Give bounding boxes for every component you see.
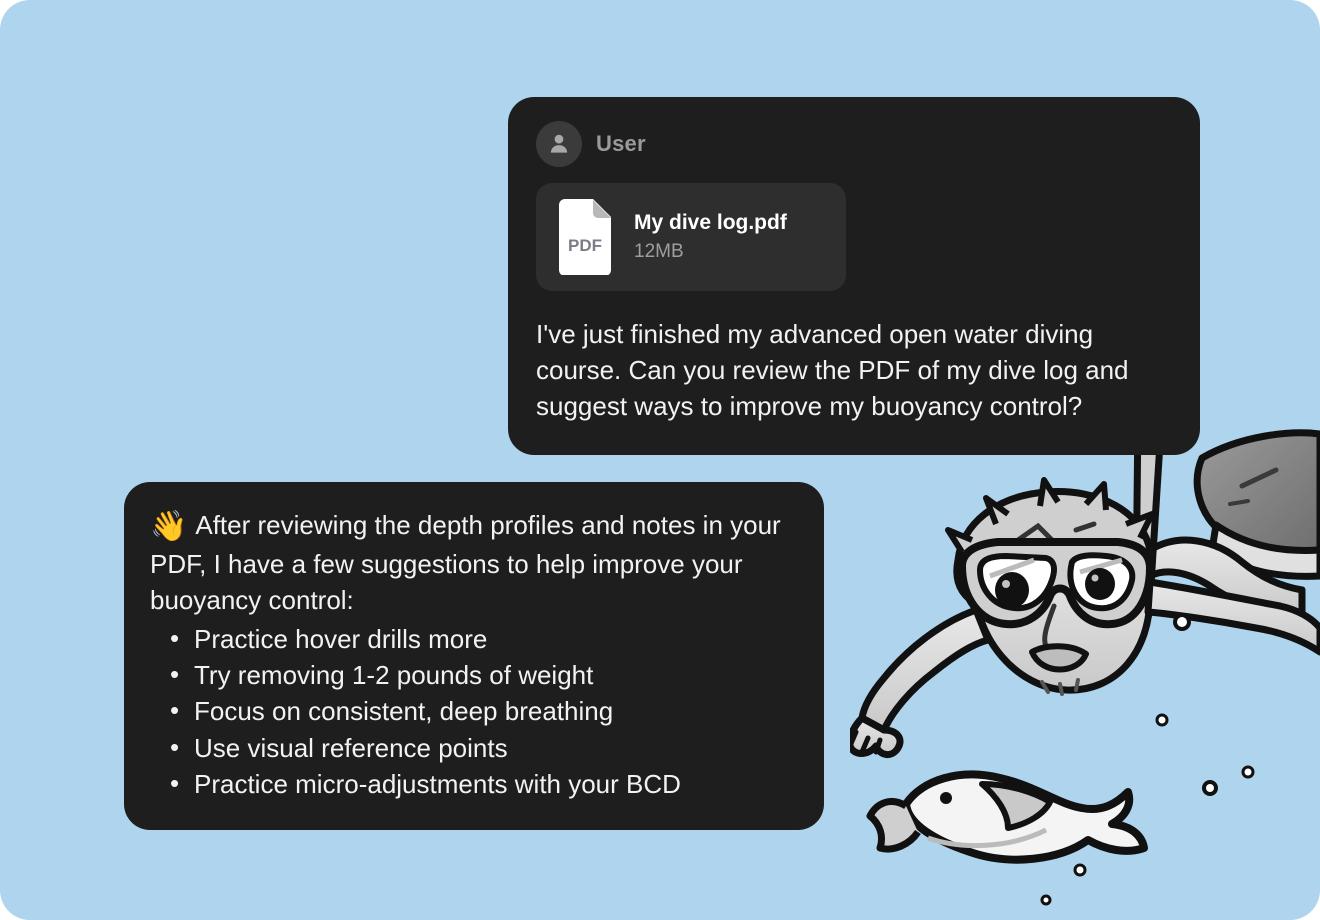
suggestion-list: Practice hover drills more Try removing … <box>150 621 794 802</box>
snorkeler-arm-left <box>850 610 988 755</box>
dive-mask-icon <box>962 542 1150 624</box>
hair <box>948 480 1152 608</box>
pdf-file-icon: PDF <box>554 199 616 275</box>
assistant-intro-body: After reviewing the depth profiles and n… <box>150 510 781 615</box>
snorkeler-arm-right <box>1148 582 1320 652</box>
screen-canvas: User PDF My dive log.pdf 12MB I've just … <box>0 0 1320 920</box>
list-item: Use visual reference points <box>168 730 794 766</box>
assistant-intro-text: 👋After reviewing the depth profiles and … <box>150 506 794 619</box>
snorkeler-body <box>1150 540 1302 614</box>
air-bubbles <box>1042 400 1253 904</box>
list-item: Try removing 1-2 pounds of weight <box>168 657 794 693</box>
list-item: Practice micro-adjustments with your BCD <box>168 766 794 802</box>
wetsuit-arm <box>1197 433 1320 577</box>
attachment-card[interactable]: PDF My dive log.pdf 12MB <box>536 183 846 291</box>
user-message-bubble: User PDF My dive log.pdf 12MB I've just … <box>508 97 1200 455</box>
fish <box>870 774 1144 859</box>
assistant-message-bubble: 👋After reviewing the depth profiles and … <box>124 482 824 830</box>
attachment-file-size: 12MB <box>634 241 787 263</box>
message-header: User <box>536 121 1172 167</box>
avatar <box>536 121 582 167</box>
list-item: Practice hover drills more <box>168 621 794 657</box>
svg-text:PDF: PDF <box>568 236 602 255</box>
attachment-file-name: My dive log.pdf <box>634 211 787 235</box>
list-item: Focus on consistent, deep breathing <box>168 693 794 729</box>
waving-hand-icon: 👋 <box>150 510 187 543</box>
message-author-label: User <box>596 131 646 157</box>
user-message-text: I've just finished my advanced open wate… <box>536 317 1172 425</box>
face <box>962 542 1150 694</box>
user-avatar-icon <box>546 131 572 157</box>
attachment-meta: My dive log.pdf 12MB <box>634 211 787 263</box>
